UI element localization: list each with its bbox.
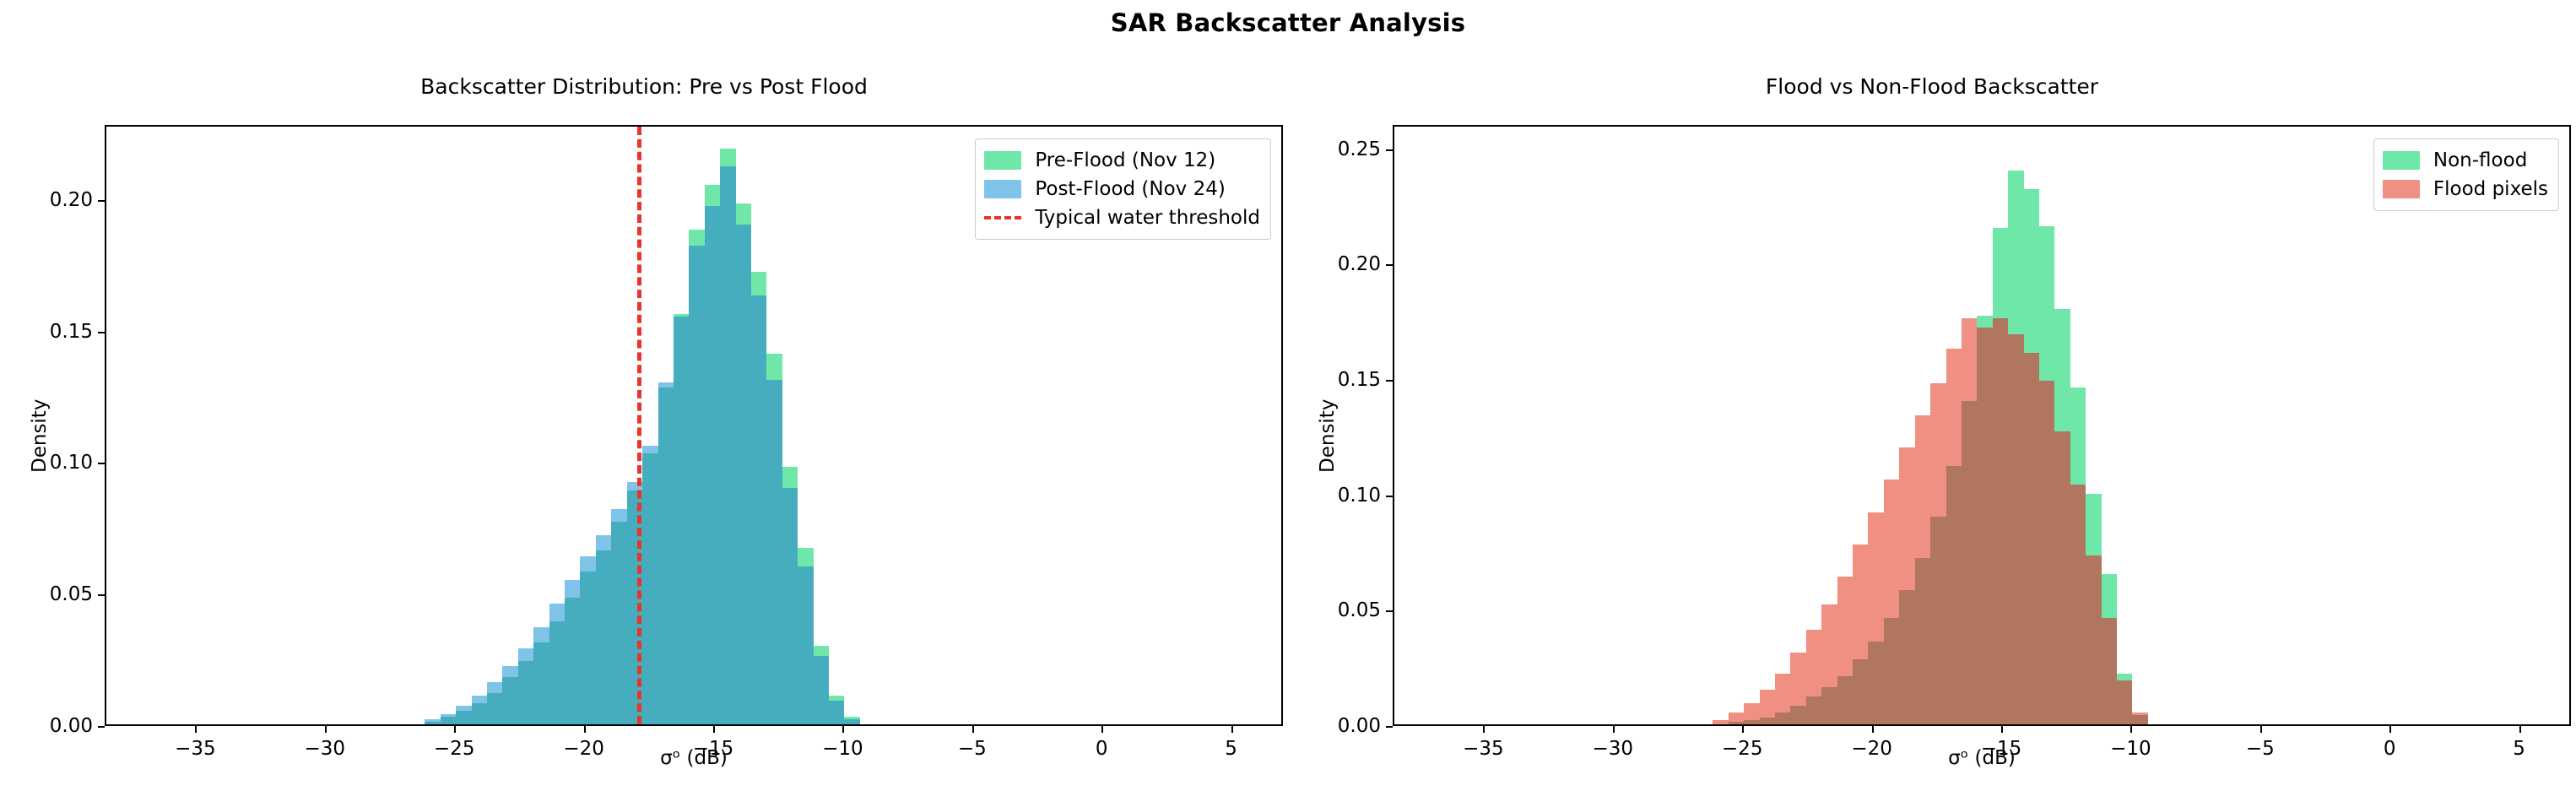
x-axis-label-left: σᵒ (dB) bbox=[105, 747, 1283, 769]
histogram-bar-overlap bbox=[1821, 687, 1837, 724]
histogram-bar-overlap bbox=[1962, 401, 1977, 724]
subplot-flood-vs-nonflood: Flood vs Non-Flood Backscatter −35−30−25… bbox=[1288, 0, 2576, 802]
y-tick-label: 0.15 bbox=[17, 321, 93, 343]
y-tick-label: 0.05 bbox=[17, 583, 93, 605]
legend-item[interactable]: Flood pixels bbox=[2383, 175, 2548, 203]
x-tick-mark bbox=[2389, 726, 2391, 733]
histogram-bar-overlap bbox=[844, 719, 859, 724]
legend-label: Flood pixels bbox=[2433, 178, 2548, 200]
histogram-bar-overlap bbox=[1837, 676, 1853, 724]
y-tick-label: 0.20 bbox=[1305, 253, 1381, 275]
x-tick-mark bbox=[1101, 726, 1103, 733]
legend-right[interactable]: Non-floodFlood pixels bbox=[2373, 138, 2559, 211]
x-tick-mark bbox=[325, 726, 327, 733]
y-tick-mark bbox=[1386, 264, 1393, 266]
legend-label: Post-Flood (Nov 24) bbox=[1035, 178, 1226, 200]
legend-item[interactable]: Typical water threshold bbox=[984, 203, 1260, 232]
legend-color-swatch bbox=[2383, 151, 2420, 170]
legend-label: Pre-Flood (Nov 12) bbox=[1035, 149, 1215, 171]
histogram-bar-overlap bbox=[1993, 318, 2008, 724]
x-tick-mark bbox=[713, 726, 715, 733]
subplot-right-title: Flood vs Non-Flood Backscatter bbox=[1288, 74, 2576, 99]
legend-item[interactable]: Pre-Flood (Nov 12) bbox=[984, 146, 1260, 175]
legend-item[interactable]: Non-flood bbox=[2383, 146, 2548, 175]
y-axis-label-left: Density bbox=[29, 399, 51, 473]
histogram-bar-overlap bbox=[689, 246, 704, 724]
plot-area-right bbox=[1394, 127, 2569, 724]
histogram-bar-overlap bbox=[674, 317, 689, 724]
histogram-bar-overlap bbox=[751, 295, 766, 724]
histogram-bar-overlap bbox=[705, 206, 720, 724]
histogram-bar-overlap bbox=[2117, 680, 2132, 724]
x-tick-mark bbox=[2260, 726, 2262, 733]
histogram-bar-overlap bbox=[518, 661, 533, 724]
histogram-bar-overlap bbox=[1868, 642, 1883, 724]
histogram-bar-overlap bbox=[1915, 558, 1930, 724]
histogram-bar-overlap bbox=[425, 722, 440, 724]
legend-color-swatch bbox=[2383, 180, 2420, 198]
x-tick-mark bbox=[454, 726, 456, 733]
y-tick-label: 0.15 bbox=[1305, 369, 1381, 391]
x-tick-mark bbox=[2130, 726, 2132, 733]
histogram-bar-overlap bbox=[1790, 706, 1805, 724]
histogram-bar-overlap bbox=[441, 717, 456, 724]
y-tick-mark bbox=[1386, 726, 1393, 728]
x-tick-mark bbox=[195, 726, 197, 733]
histogram-bar-overlap bbox=[1853, 659, 1868, 724]
y-tick-mark bbox=[98, 463, 105, 464]
y-tick-label: 0.20 bbox=[17, 189, 93, 211]
y-tick-mark bbox=[98, 726, 105, 728]
histogram-bar-overlap bbox=[658, 387, 674, 724]
histogram-bar-overlap bbox=[1946, 466, 1962, 724]
histogram-bar-overlap bbox=[782, 488, 798, 724]
histogram-bar-overlap bbox=[1899, 590, 1914, 724]
histogram-bar-overlap bbox=[720, 166, 735, 724]
histogram-bar-overlap bbox=[596, 550, 611, 724]
legend-color-swatch bbox=[984, 151, 1021, 170]
x-tick-mark bbox=[584, 726, 586, 733]
x-tick-mark bbox=[2519, 726, 2521, 733]
histogram-bar-overlap bbox=[1930, 517, 1946, 724]
y-tick-mark bbox=[98, 332, 105, 333]
y-tick-mark bbox=[98, 200, 105, 202]
histogram-bar-overlap bbox=[580, 572, 595, 724]
legend-color-swatch bbox=[984, 180, 1021, 198]
x-tick-mark bbox=[1613, 726, 1615, 733]
histogram-bar-overlap bbox=[565, 598, 580, 724]
legend-left[interactable]: Pre-Flood (Nov 12)Post-Flood (Nov 24)Typ… bbox=[975, 138, 1271, 240]
histogram-bar-overlap bbox=[549, 621, 565, 724]
histogram-bar-overlap bbox=[2132, 715, 2147, 724]
x-tick-mark bbox=[842, 726, 844, 733]
y-tick-mark bbox=[98, 594, 105, 596]
histogram-bar-overlap bbox=[2102, 618, 2117, 724]
subplot-backscatter-distribution: Backscatter Distribution: Pre vs Post Fl… bbox=[0, 0, 1288, 802]
histogram-bar-overlap bbox=[1760, 718, 1775, 724]
y-axis-label-right: Density bbox=[1317, 399, 1339, 473]
histogram-bar-overlap bbox=[642, 453, 658, 724]
y-tick-mark bbox=[1386, 496, 1393, 497]
histogram-bar-overlap bbox=[736, 225, 751, 724]
histogram-bar-overlap bbox=[1775, 713, 1790, 724]
histogram-bar-overlap bbox=[1729, 722, 1744, 724]
histogram-bar-overlap bbox=[533, 642, 549, 724]
y-tick-mark bbox=[1386, 149, 1393, 151]
histogram-bar-overlap bbox=[829, 701, 844, 724]
histogram-bar-overlap bbox=[1884, 618, 1899, 724]
histogram-bar-overlap bbox=[2086, 555, 2101, 724]
histogram-bar-overlap bbox=[2024, 353, 2039, 724]
histogram-bar bbox=[1713, 720, 1728, 724]
histogram-bar-overlap bbox=[766, 380, 782, 724]
subplot-left-title: Backscatter Distribution: Pre vs Post Fl… bbox=[0, 74, 1288, 99]
histogram-bar-overlap bbox=[798, 566, 813, 724]
histogram-bar-overlap bbox=[1806, 696, 1821, 724]
histogram-bar-overlap bbox=[2039, 381, 2054, 724]
legend-label: Non-flood bbox=[2433, 149, 2527, 171]
histogram-bar-overlap bbox=[502, 677, 517, 724]
histogram-bar-overlap bbox=[2008, 334, 2023, 724]
water-threshold-line bbox=[637, 127, 641, 724]
x-tick-mark bbox=[2001, 726, 2003, 733]
x-tick-mark bbox=[972, 726, 974, 733]
histogram-bar-overlap bbox=[814, 656, 829, 724]
plot-axes-right bbox=[1393, 125, 2571, 726]
x-axis-label-right: σᵒ (dB) bbox=[1393, 747, 2571, 769]
legend-dashed-line-icon bbox=[984, 216, 1021, 219]
y-tick-mark bbox=[1386, 380, 1393, 382]
histogram-bar-overlap bbox=[472, 703, 487, 724]
y-tick-label: 0.00 bbox=[17, 715, 93, 737]
x-tick-mark bbox=[1231, 726, 1233, 733]
histogram-bar-overlap bbox=[611, 522, 626, 724]
x-tick-mark bbox=[1872, 726, 1874, 733]
histogram-bar-overlap bbox=[1977, 328, 1992, 724]
y-tick-label: 0.00 bbox=[1305, 715, 1381, 737]
y-tick-mark bbox=[1386, 610, 1393, 612]
histogram-bar-overlap bbox=[2070, 485, 2086, 724]
x-tick-mark bbox=[1742, 726, 1744, 733]
y-tick-label: 0.05 bbox=[1305, 599, 1381, 621]
legend-label: Typical water threshold bbox=[1035, 207, 1260, 229]
y-tick-label: 0.25 bbox=[1305, 138, 1381, 160]
x-tick-mark bbox=[1483, 726, 1485, 733]
histogram-bar-overlap bbox=[487, 693, 502, 724]
figure-canvas: SAR Backscatter Analysis Backscatter Dis… bbox=[0, 0, 2576, 802]
y-tick-label: 0.10 bbox=[1305, 485, 1381, 507]
legend-item[interactable]: Post-Flood (Nov 24) bbox=[984, 175, 1260, 203]
histogram-bar-overlap bbox=[1744, 720, 1759, 724]
histogram-bar-overlap bbox=[456, 711, 471, 724]
histogram-bar-overlap bbox=[2054, 431, 2070, 724]
